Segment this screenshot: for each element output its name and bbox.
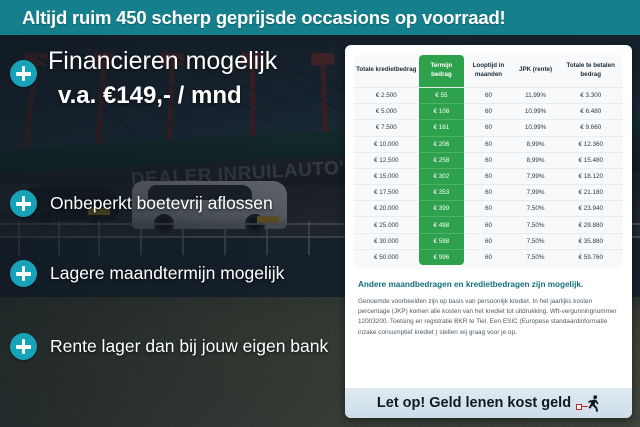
cell-monthly-amount: € 399	[419, 201, 465, 217]
cell-duration: 60	[464, 249, 512, 265]
cell-apr: 7,99%	[513, 168, 559, 184]
cell-apr: 7,50%	[513, 233, 559, 249]
cell-total-payable: € 18.120	[558, 168, 623, 184]
column-header-duration: Looptijd in maanden	[464, 55, 512, 87]
rate-table-body: € 2.500€ 556011,99%€ 3.300€ 5.000€ 10860…	[354, 87, 623, 265]
cell-total-payable: € 35.880	[558, 233, 623, 249]
benefit-item-3: Rente lager dan bij jouw eigen bank	[10, 333, 346, 360]
cell-monthly-amount: € 598	[419, 233, 465, 249]
benefit-item-2: Lagere maandtermijn mogelijk	[10, 260, 346, 287]
cell-apr: 10,99%	[513, 104, 559, 120]
cell-total-payable: € 15.480	[558, 152, 623, 168]
plus-circle-icon	[10, 190, 37, 217]
benefit-label: Lagere maandtermijn mogelijk	[50, 264, 284, 283]
column-header-monthly-amount: Termijn bedrag	[419, 55, 465, 87]
cell-apr: 7,50%	[513, 249, 559, 265]
cell-duration: 60	[464, 233, 512, 249]
cell-total-credit: € 10.000	[354, 136, 419, 152]
rate-table: Totale kredietbedrag Termijn bedrag Loop…	[354, 55, 623, 265]
headline-group: Financieren mogelijk v.a. €149,- / mnd	[10, 48, 342, 111]
cell-total-payable: € 12.360	[558, 136, 623, 152]
table-row: € 30.000€ 598607,50%€ 35.880	[354, 233, 623, 249]
column-header-apr: JPK (rente)	[513, 55, 559, 87]
cell-total-payable: € 23.940	[558, 201, 623, 217]
cell-apr: 11,99%	[513, 87, 559, 103]
cell-total-payable: € 29.880	[558, 217, 623, 233]
plus-circle-icon	[10, 260, 37, 287]
cell-monthly-amount: € 302	[419, 168, 465, 184]
cell-total-payable: € 6.480	[558, 104, 623, 120]
cell-apr: 7,99%	[513, 185, 559, 201]
cell-monthly-amount: € 161	[419, 120, 465, 136]
cell-duration: 60	[464, 120, 512, 136]
cell-total-payable: € 3.300	[558, 87, 623, 103]
cell-total-credit: € 50.000	[354, 249, 419, 265]
fine-print: Andere maandbedragen en kredietbedragen …	[345, 269, 632, 338]
geld-lenen-kost-geld-icon	[576, 395, 600, 412]
fine-print-body: Genoemde voorbeelden zijn op basis van p…	[358, 297, 619, 339]
financing-card: Totale kredietbedrag Termijn bedrag Loop…	[345, 45, 632, 418]
table-row: € 50.000€ 996607,50%€ 59.760	[354, 249, 623, 265]
cell-duration: 60	[464, 136, 512, 152]
table-row: € 25.000€ 498607,50%€ 29.880	[354, 217, 623, 233]
column-header-total-payable: Totale te betalen bedrag	[558, 55, 623, 87]
cell-monthly-amount: € 498	[419, 217, 465, 233]
fine-print-heading: Andere maandbedragen en kredietbedragen …	[358, 280, 619, 291]
header-banner: Altijd ruim 450 scherp geprijsde occasio…	[0, 0, 640, 35]
column-header-total-credit: Totale kredietbedrag	[354, 55, 419, 87]
cell-total-payable: € 21.180	[558, 185, 623, 201]
warning-text: Let op! Geld lenen kost geld	[377, 395, 571, 411]
left-panel: Financieren mogelijk v.a. €149,- / mnd O…	[0, 35, 345, 427]
cell-total-payable: € 9.660	[558, 120, 623, 136]
cell-total-credit: € 30.000	[354, 233, 419, 249]
cell-duration: 60	[464, 201, 512, 217]
warning-bar: Let op! Geld lenen kost geld	[345, 388, 632, 418]
cell-monthly-amount: € 258	[419, 152, 465, 168]
advertisement-banner: DEALER INRUILAUTO'S JOHAN MEURE ALTIJD 4…	[0, 0, 640, 427]
plus-circle-icon	[10, 60, 37, 87]
cell-monthly-amount: € 353	[419, 185, 465, 201]
cell-total-credit: € 17.500	[354, 185, 419, 201]
table-row: € 10.000€ 206608,99%€ 12.360	[354, 136, 623, 152]
cell-monthly-amount: € 206	[419, 136, 465, 152]
headline-secondary: v.a. €149,- / mnd	[48, 76, 277, 111]
cell-total-credit: € 20.000	[354, 201, 419, 217]
cell-total-credit: € 12.500	[354, 152, 419, 168]
benefit-label: Rente lager dan bij jouw eigen bank	[50, 337, 328, 356]
table-row: € 20.000€ 399607,50%€ 23.940	[354, 201, 623, 217]
cell-total-credit: € 25.000	[354, 217, 419, 233]
cell-duration: 60	[464, 152, 512, 168]
cell-total-credit: € 5.000	[354, 104, 419, 120]
rate-table-container: Totale kredietbedrag Termijn bedrag Loop…	[354, 55, 623, 269]
table-row: € 17.500€ 353607,99%€ 21.180	[354, 185, 623, 201]
plus-circle-icon	[10, 333, 37, 360]
cell-apr: 8,99%	[513, 136, 559, 152]
header-banner-text: Altijd ruim 450 scherp geprijsde occasio…	[0, 7, 506, 29]
cell-apr: 7,50%	[513, 201, 559, 217]
cell-total-credit: € 15.000	[354, 168, 419, 184]
cell-total-credit: € 7.500	[354, 120, 419, 136]
table-row: € 15.000€ 302607,99%€ 18.120	[354, 168, 623, 184]
cell-monthly-amount: € 55	[419, 87, 465, 103]
cell-monthly-amount: € 108	[419, 104, 465, 120]
cell-total-payable: € 59.760	[558, 249, 623, 265]
table-row: € 12.500€ 258608,99%€ 15.480	[354, 152, 623, 168]
cell-apr: 8,99%	[513, 152, 559, 168]
cell-monthly-amount: € 996	[419, 249, 465, 265]
benefit-label: Onbeperkt boetevrij aflossen	[50, 194, 273, 213]
benefit-item-1: Onbeperkt boetevrij aflossen	[10, 190, 346, 217]
headline-primary: Financieren mogelijk	[48, 48, 277, 76]
table-row: € 7.500€ 1616010,99%€ 9.660	[354, 120, 623, 136]
table-row: € 2.500€ 556011,99%€ 3.300	[354, 87, 623, 103]
cell-duration: 60	[464, 104, 512, 120]
cell-total-credit: € 2.500	[354, 87, 419, 103]
cell-duration: 60	[464, 217, 512, 233]
table-row: € 5.000€ 1086010,99%€ 6.480	[354, 104, 623, 120]
cell-apr: 10,99%	[513, 120, 559, 136]
cell-duration: 60	[464, 185, 512, 201]
cell-duration: 60	[464, 168, 512, 184]
table-header-row: Totale kredietbedrag Termijn bedrag Loop…	[354, 55, 623, 87]
cell-apr: 7,50%	[513, 217, 559, 233]
cell-duration: 60	[464, 87, 512, 103]
